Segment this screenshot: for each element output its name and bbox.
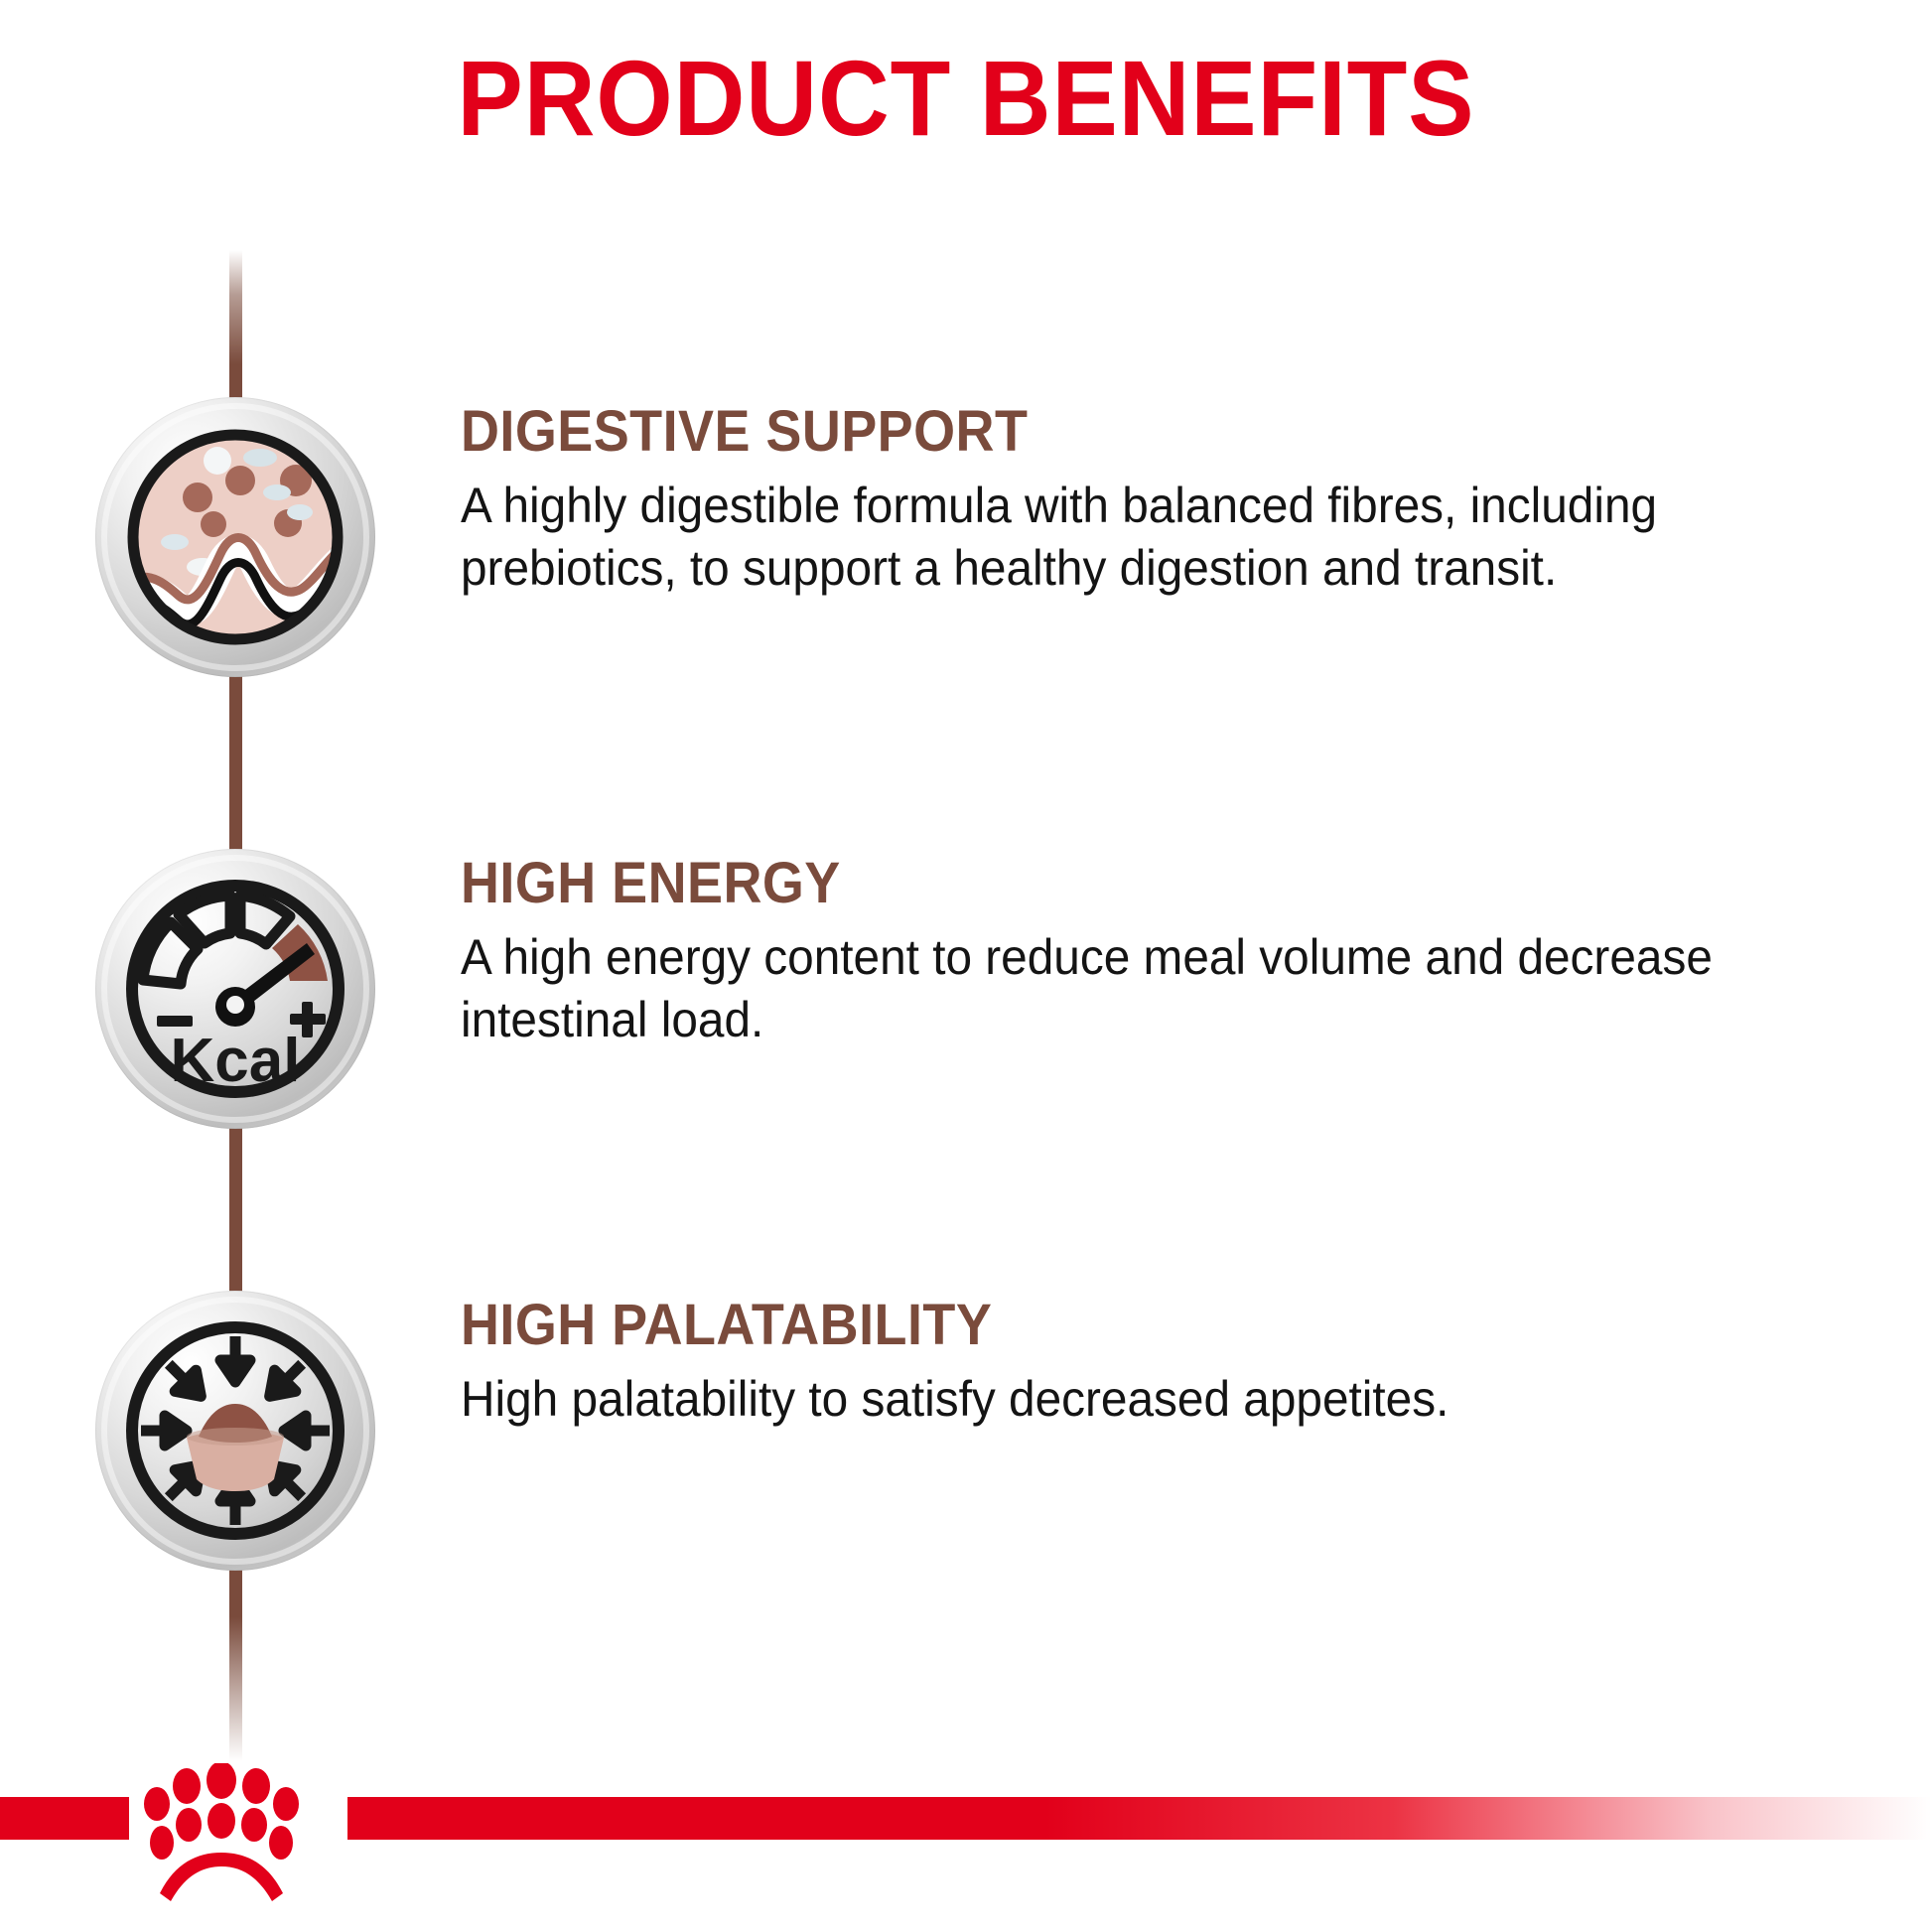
kcal-label: Kcal <box>171 1027 301 1095</box>
footer-bar-left <box>0 1797 129 1840</box>
benefit-heading-high-energy: HIGH ENERGY <box>461 853 1689 914</box>
timeline-rail-segment-2 <box>229 1112 242 1297</box>
high-energy-kcal-gauge-icon: Kcal <box>95 849 375 1129</box>
benefit-body-digestive-support: A highly digestible formula with balance… <box>461 475 1722 600</box>
high-palatability-badge <box>95 1291 375 1571</box>
food-bowl <box>187 1404 284 1491</box>
footer <box>0 1757 1932 1932</box>
high-palatability-bowl-icon <box>95 1291 375 1571</box>
timeline-rail-top <box>229 250 242 409</box>
timeline-rail-segment-1 <box>229 671 242 860</box>
page-title: PRODUCT BENEFITS <box>77 36 1855 160</box>
footer-bar-right <box>347 1797 1932 1840</box>
benefit-body-high-energy: A high energy content to reduce meal vol… <box>461 926 1722 1051</box>
benefit-text-block: HIGH PALATABILITY High palatability to s… <box>461 1295 1781 1431</box>
digestive-support-badge <box>95 397 375 677</box>
benefit-heading-high-palatability: HIGH PALATABILITY <box>461 1295 1689 1356</box>
digestive-support-icon <box>95 397 375 677</box>
royal-canin-crown-logo <box>127 1763 316 1912</box>
high-energy-badge: Kcal <box>95 849 375 1129</box>
benefit-text-block: DIGESTIVE SUPPORT A highly digestible fo… <box>461 401 1781 600</box>
timeline-rail-bottom <box>229 1567 242 1761</box>
benefit-text-block: HIGH ENERGY A high energy content to red… <box>461 853 1781 1051</box>
benefit-heading-digestive-support: DIGESTIVE SUPPORT <box>461 401 1689 463</box>
benefit-body-high-palatability: High palatability to satisfy decreased a… <box>461 1368 1722 1431</box>
